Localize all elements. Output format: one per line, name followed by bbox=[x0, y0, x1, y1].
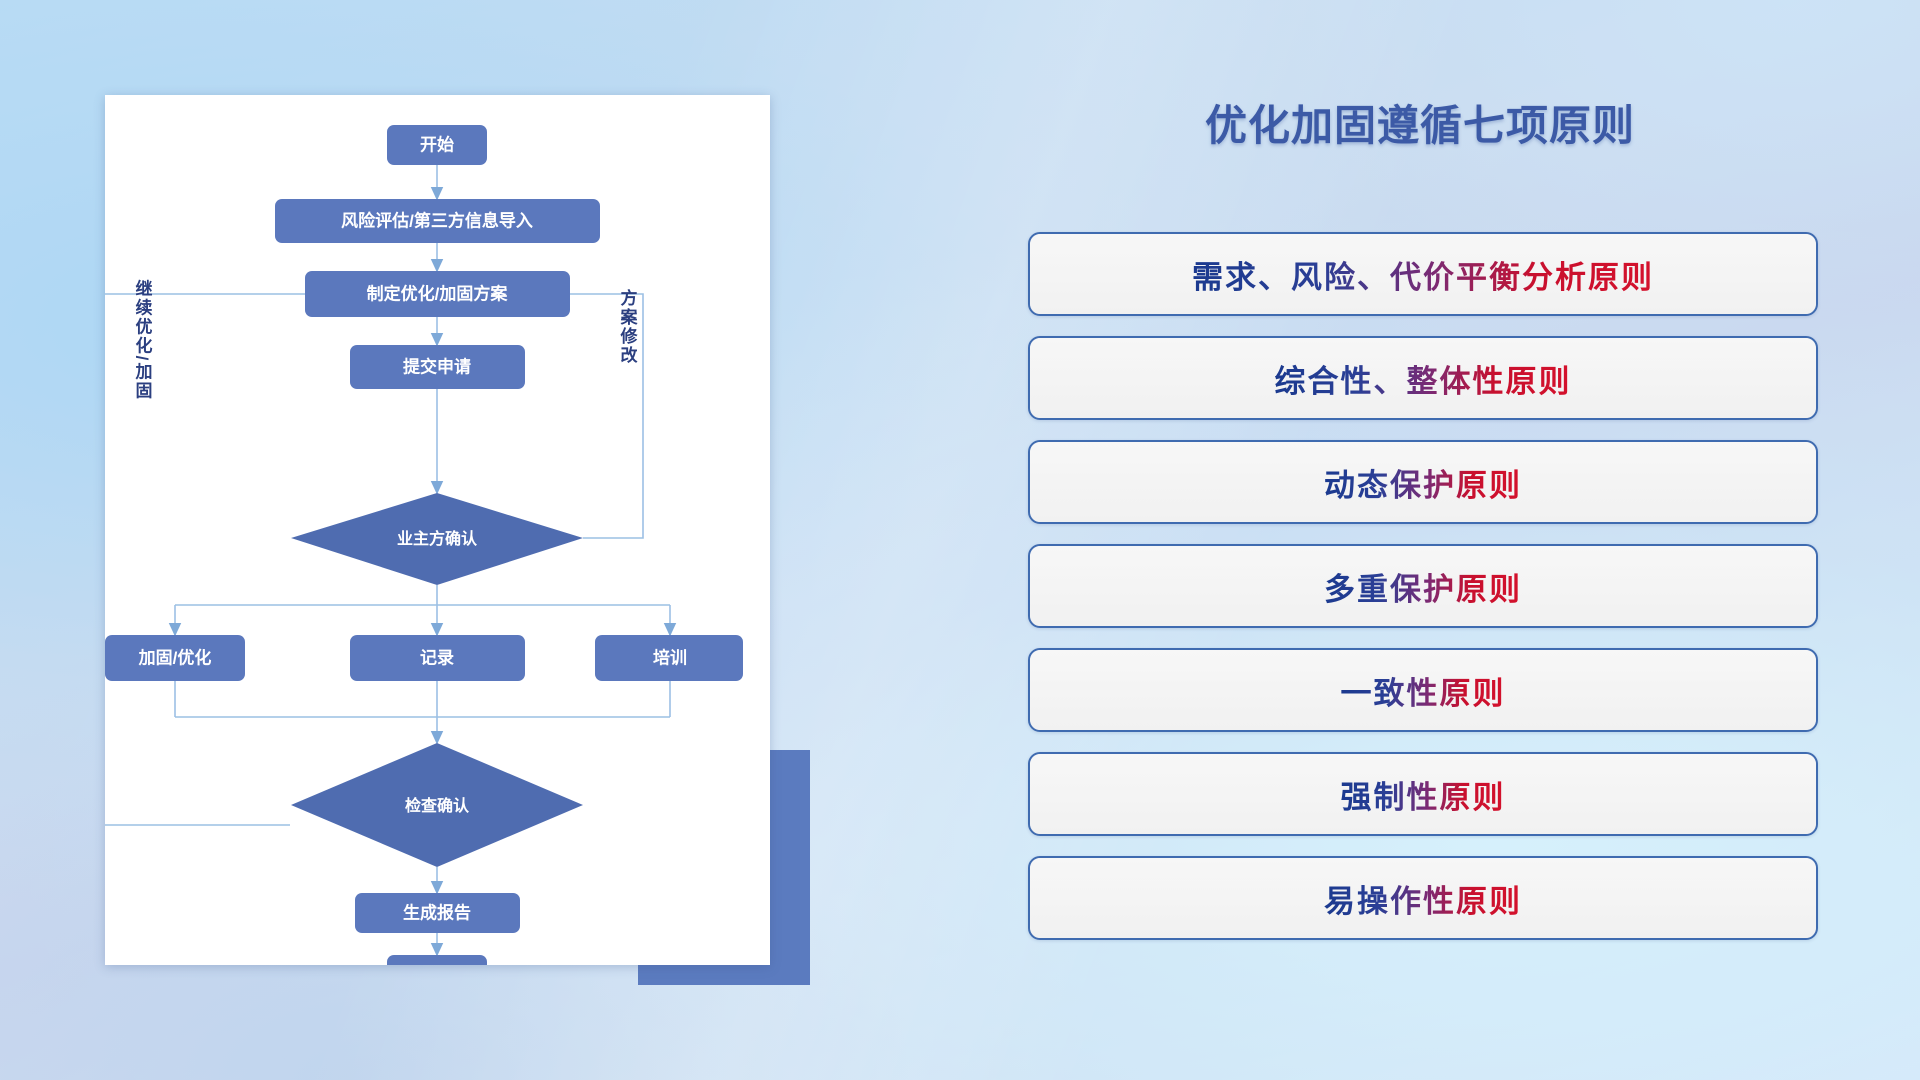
principle-card-4-label: 多重保护原则 bbox=[1324, 564, 1522, 609]
node-plan-label: 制定优化/加固方案 bbox=[367, 283, 509, 303]
principle-card-2[interactable]: 综合性、整体性原则 bbox=[1028, 336, 1818, 420]
principle-card-2-label: 综合性、整体性原则 bbox=[1275, 356, 1572, 401]
principle-card-5-label: 一致性原则 bbox=[1341, 668, 1506, 713]
principle-card-1[interactable]: 需求、风险、代价平衡分析原则 bbox=[1028, 232, 1818, 316]
principle-card-3-label: 动态保护原则 bbox=[1324, 460, 1522, 505]
principle-card-3-inner: 动态保护原则 bbox=[1030, 442, 1816, 522]
slide-canvas: 开始 风险评估/第三方信息导入 制定优化/加固方案 提交申请 业主方确认 加固/ bbox=[0, 0, 1920, 1080]
node-record[interactable]: 记录 bbox=[350, 635, 525, 681]
edge-label-continue-optimize: 继续优化/加固 bbox=[133, 279, 154, 401]
principle-card-1-label: 需求、风险、代价平衡分析原则 bbox=[1192, 252, 1654, 297]
principle-card-7-inner: 易操作性原则 bbox=[1030, 858, 1816, 938]
node-check-confirm-label: 检查确认 bbox=[405, 796, 470, 815]
node-check-confirm[interactable]: 检查确认 bbox=[291, 743, 583, 867]
principle-card-3[interactable]: 动态保护原则 bbox=[1028, 440, 1818, 524]
node-training[interactable]: 培训 bbox=[595, 635, 743, 681]
principles-panel: 优化加固遵循七项原则 需求、风险、代价平衡分析原则 综合性、整体性原则 动态保护… bbox=[1010, 92, 1830, 992]
principle-card-6-label: 强制性原则 bbox=[1341, 772, 1506, 817]
principle-card-2-inner: 综合性、整体性原则 bbox=[1030, 338, 1816, 418]
node-reinforce-label: 加固/优化 bbox=[138, 647, 212, 667]
panel-title: 优化加固遵循七项原则 bbox=[1010, 92, 1830, 153]
node-end-label: 结束 bbox=[420, 964, 454, 965]
node-reinforce[interactable]: 加固/优化 bbox=[105, 635, 245, 681]
principle-card-5[interactable]: 一致性原则 bbox=[1028, 648, 1818, 732]
node-record-label: 记录 bbox=[420, 648, 454, 667]
node-owner-confirm[interactable]: 业主方确认 bbox=[291, 493, 583, 585]
principles-list: 需求、风险、代价平衡分析原则 综合性、整体性原则 动态保护原则 多重保护原则 bbox=[1028, 232, 1818, 960]
node-submit-label: 提交申请 bbox=[403, 356, 471, 376]
node-training-label: 培训 bbox=[653, 647, 687, 667]
principle-card-6-inner: 强制性原则 bbox=[1030, 754, 1816, 834]
principle-card-5-inner: 一致性原则 bbox=[1030, 650, 1816, 730]
flowchart-card: 开始 风险评估/第三方信息导入 制定优化/加固方案 提交申请 业主方确认 加固/ bbox=[105, 95, 770, 965]
node-plan[interactable]: 制定优化/加固方案 bbox=[305, 271, 570, 317]
principle-card-4[interactable]: 多重保护原则 bbox=[1028, 544, 1818, 628]
node-start[interactable]: 开始 bbox=[387, 125, 487, 165]
node-start-label: 开始 bbox=[420, 134, 454, 154]
principle-card-4-inner: 多重保护原则 bbox=[1030, 546, 1816, 626]
node-submit-application[interactable]: 提交申请 bbox=[350, 345, 525, 389]
node-end[interactable]: 结束 bbox=[387, 955, 487, 965]
node-risk-assessment[interactable]: 风险评估/第三方信息导入 bbox=[275, 199, 600, 243]
node-risk-label: 风险评估/第三方信息导入 bbox=[341, 210, 533, 230]
principle-card-1-inner: 需求、风险、代价平衡分析原则 bbox=[1030, 234, 1816, 314]
node-generate-report[interactable]: 生成报告 bbox=[355, 893, 520, 933]
principle-card-6[interactable]: 强制性原则 bbox=[1028, 752, 1818, 836]
edge-label-plan-revision: 方案修改 bbox=[618, 288, 639, 365]
node-report-label: 生成报告 bbox=[403, 902, 471, 922]
principle-card-7-label: 易操作性原则 bbox=[1324, 876, 1522, 921]
node-owner-confirm-label: 业主方确认 bbox=[397, 529, 478, 548]
principle-card-7[interactable]: 易操作性原则 bbox=[1028, 856, 1818, 940]
flowchart-svg: 开始 风险评估/第三方信息导入 制定优化/加固方案 提交申请 业主方确认 加固/ bbox=[105, 95, 770, 965]
